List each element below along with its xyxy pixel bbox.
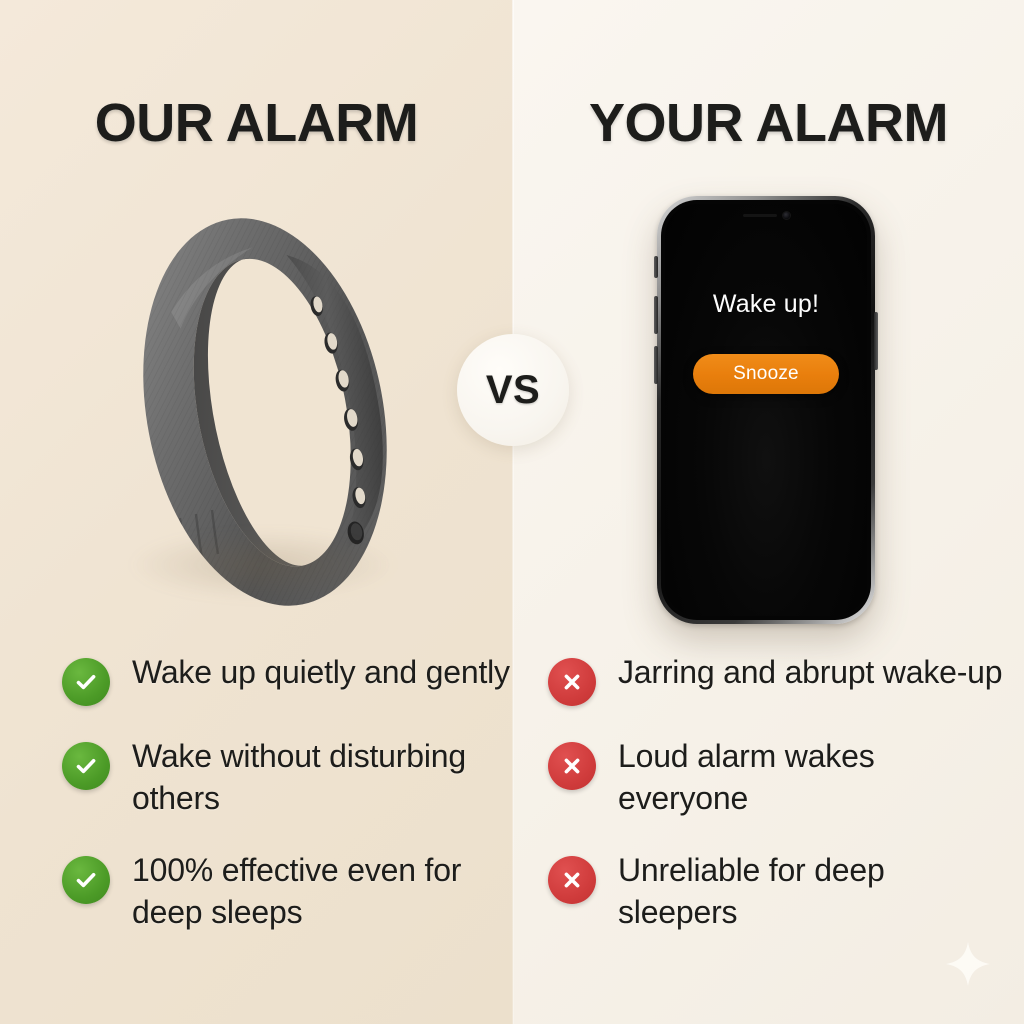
comparison-infographic: OUR ALARM YOUR ALARM VS bbox=[0, 0, 1024, 1024]
x-circle-icon bbox=[548, 742, 596, 790]
check-circle-icon bbox=[62, 658, 110, 706]
alarm-title: Wake up! bbox=[665, 290, 867, 319]
cons-item-text: Jarring and abrupt wake-up bbox=[618, 652, 1002, 694]
speaker-grille-icon bbox=[743, 214, 777, 217]
smartphone-mockup: Wake up! Snooze bbox=[657, 196, 875, 624]
snooze-button-label: Snooze bbox=[733, 363, 799, 385]
pros-item-text: Wake without disturbing others bbox=[132, 736, 522, 820]
page-title-right: YOUR ALARM bbox=[513, 92, 1024, 154]
front-camera-icon bbox=[783, 212, 790, 219]
phone-silence-switch[interactable] bbox=[654, 256, 658, 278]
check-circle-icon bbox=[62, 856, 110, 904]
cons-list: Jarring and abrupt wake-up Loud alarm wa… bbox=[548, 652, 1008, 964]
phone-screen: Wake up! Snooze bbox=[665, 204, 867, 616]
list-item: 100% effective even for deep sleeps bbox=[62, 850, 522, 934]
phone-notch bbox=[728, 211, 804, 219]
pros-item-text: Wake up quietly and gently bbox=[132, 652, 510, 694]
pros-list: Wake up quietly and gently Wake without … bbox=[62, 652, 522, 964]
sparkle-icon bbox=[944, 940, 992, 988]
phone-volume-up-button[interactable] bbox=[654, 296, 658, 334]
page-title-left: OUR ALARM bbox=[0, 92, 513, 154]
list-item: Unreliable for deep sleepers bbox=[548, 850, 1008, 934]
x-circle-icon bbox=[548, 856, 596, 904]
versus-badge: VS bbox=[457, 334, 569, 446]
check-circle-icon bbox=[62, 742, 110, 790]
list-item: Wake without disturbing others bbox=[62, 736, 522, 820]
phone-bezel: Wake up! Snooze bbox=[661, 200, 871, 620]
phone-power-button[interactable] bbox=[874, 312, 878, 370]
snooze-button[interactable]: Snooze bbox=[693, 354, 839, 394]
cons-item-text: Loud alarm wakes everyone bbox=[618, 736, 1008, 820]
phone-volume-down-button[interactable] bbox=[654, 346, 658, 384]
cons-item-text: Unreliable for deep sleepers bbox=[618, 850, 1008, 934]
pros-item-text: 100% effective even for deep sleeps bbox=[132, 850, 522, 934]
list-item: Jarring and abrupt wake-up bbox=[548, 652, 1008, 706]
band-drop-shadow bbox=[128, 530, 398, 600]
versus-label: VS bbox=[486, 368, 540, 413]
fitness-band-image bbox=[120, 200, 410, 620]
x-circle-icon bbox=[548, 658, 596, 706]
list-item: Wake up quietly and gently bbox=[62, 652, 522, 706]
list-item: Loud alarm wakes everyone bbox=[548, 736, 1008, 820]
